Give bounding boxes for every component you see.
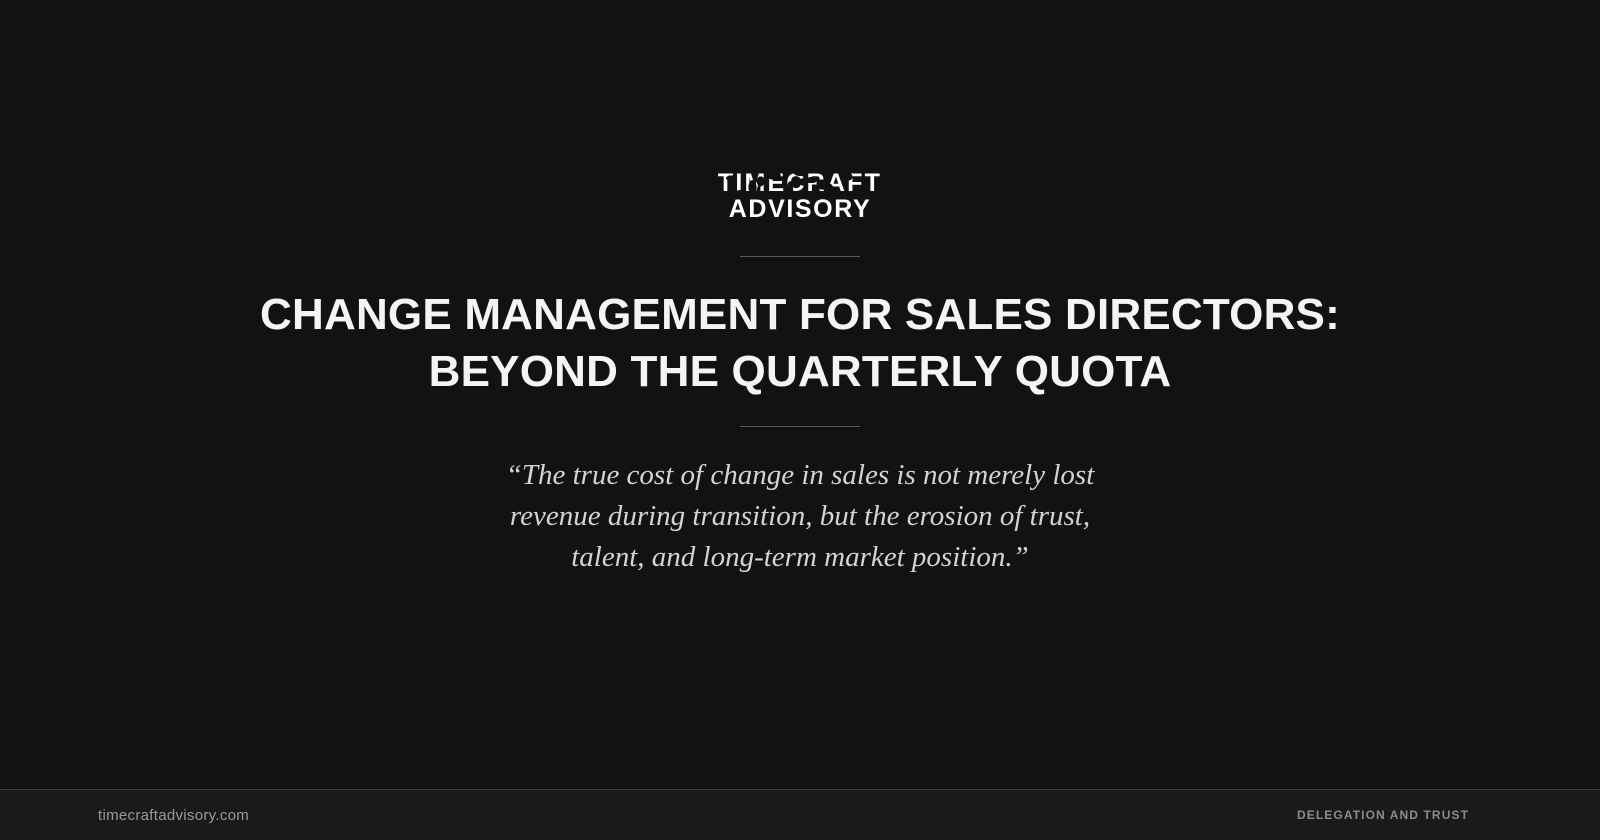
divider-under-title	[740, 426, 860, 427]
footer-website[interactable]: timecraftadvisory.com	[98, 807, 249, 824]
brand-name-secondary: ADVISORY	[729, 197, 871, 223]
brand-logo: TIMECRAFT ADVISORY	[718, 171, 882, 222]
divider-under-logo	[740, 256, 860, 257]
pull-quote: “The true cost of change in sales is not…	[480, 455, 1120, 579]
footer-bar: timecraftadvisory.com DELEGATION AND TRU…	[0, 790, 1600, 840]
slide-content: TIMECRAFT ADVISORY CHANGE MANAGEMENT FOR…	[0, 0, 1600, 790]
brand-name-primary: TIMECRAFT	[718, 171, 882, 197]
page-title: CHANGE MANAGEMENT FOR SALES DIRECTORS: B…	[260, 287, 1340, 400]
footer-section-label: DELEGATION AND TRUST	[1297, 808, 1502, 822]
title-slide: TIMECRAFT ADVISORY CHANGE MANAGEMENT FOR…	[0, 0, 1600, 840]
